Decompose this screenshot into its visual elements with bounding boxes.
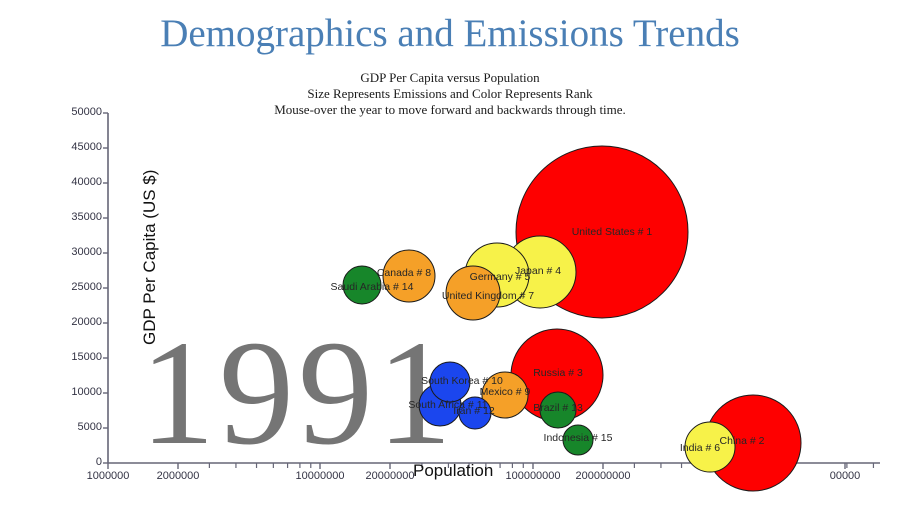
bubble-canada[interactable] xyxy=(383,250,435,302)
bubble-south-korea[interactable] xyxy=(430,362,470,402)
bubble-indonesia[interactable] xyxy=(563,425,593,455)
bubble-saudi-arabia[interactable] xyxy=(343,266,381,304)
chart-canvas: Demographics and Emissions Trends GDP Pe… xyxy=(0,0,900,526)
bubble-series xyxy=(0,0,900,526)
bubble-iran[interactable] xyxy=(459,397,491,429)
bubble-india[interactable] xyxy=(685,422,735,472)
bubble-united-kingdom[interactable] xyxy=(446,266,500,320)
bubble-brazil[interactable] xyxy=(540,392,576,428)
plot-area: 1991 50000450004000035000300002500020000… xyxy=(0,0,900,526)
